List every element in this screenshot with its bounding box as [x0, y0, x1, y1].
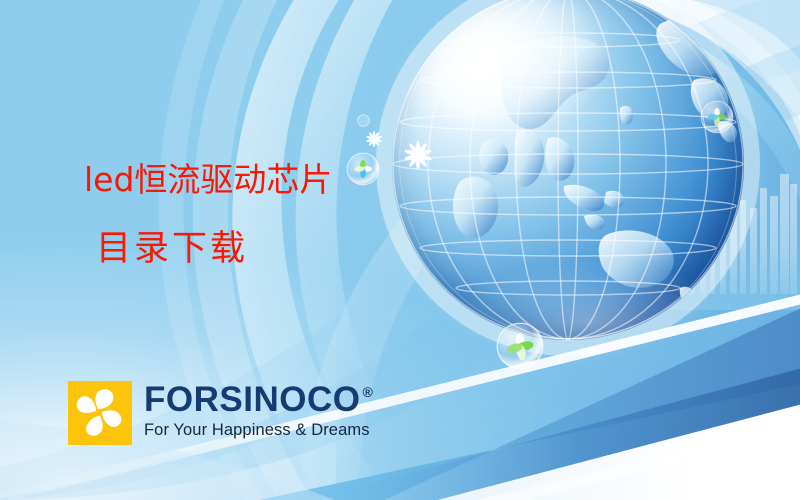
- flower-decoration-icon: [403, 140, 433, 170]
- promotional-banner: led恒流驱动芯片 目录下载 FORSINOCO ® For Your Happ…: [0, 0, 800, 500]
- headline-line-1: led恒流驱动芯片: [84, 163, 332, 196]
- pinwheel-flower-icon: [68, 381, 132, 445]
- company-logo[interactable]: FORSINOCO ® For Your Happiness & Dreams: [68, 381, 373, 445]
- brand-name: FORSINOCO ®: [144, 383, 373, 417]
- bubble-with-pinwheel-icon: [700, 100, 734, 134]
- brand-tagline: For Your Happiness & Dreams: [144, 421, 373, 439]
- bubble-with-pinwheel-icon: [357, 114, 370, 127]
- brand-name-text: FORSINOCO: [144, 383, 360, 417]
- registered-trademark-mark: ®: [362, 385, 373, 399]
- flower-decoration-icon: [365, 130, 383, 148]
- headline-line-2: 目录下载: [96, 232, 248, 267]
- bubble-with-pinwheel-icon: [346, 152, 380, 186]
- logo-text-block: FORSINOCO ® For Your Happiness & Dreams: [144, 381, 373, 439]
